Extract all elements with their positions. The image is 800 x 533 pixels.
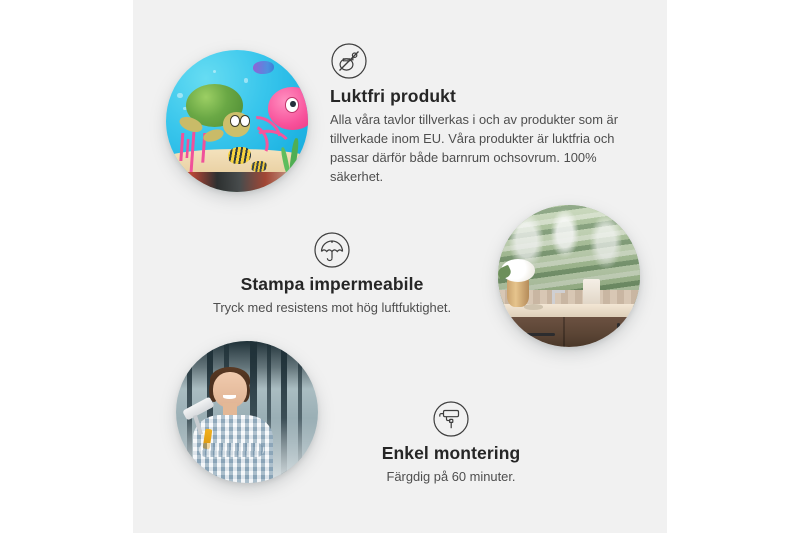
bubble-icon (244, 78, 248, 82)
woman-face (213, 372, 247, 408)
bathroom-photo (498, 205, 640, 347)
vanity-seam (563, 317, 565, 347)
cabinet-handle (617, 323, 620, 341)
feature-block-odourless: Luktfri produkt Alla våra tavlor tillver… (330, 42, 628, 187)
underwater-illustration (166, 50, 308, 192)
feature-title: Luktfri produkt (330, 86, 628, 107)
feature-body: Färgdig på 60 minuter. (331, 468, 571, 487)
purple-fish (253, 61, 274, 74)
paint-roller-icon (432, 400, 470, 438)
woman-folded-arms (199, 443, 264, 457)
bathroom-botanical-circle (498, 205, 640, 347)
woman-neck (223, 403, 237, 414)
feature-title: Enkel montering (331, 443, 571, 464)
soap-dispenser (583, 279, 600, 307)
striped-fish (228, 147, 251, 164)
feature-block-waterproof: Stampa impermeabile Tryck med resistens … (197, 231, 467, 318)
feature-block-easy-mounting: Enkel montering Färgdig på 60 minuter. (331, 400, 571, 487)
feature-body: Alla våra tavlor tillverkas i och av pro… (330, 111, 628, 187)
underwater-cartoon-circle (166, 50, 308, 192)
feature-body: Tryck med resistens mot hög luftfuktighe… (197, 299, 467, 318)
umbrella-icon (313, 231, 351, 269)
no-fragrance-icon (330, 42, 368, 80)
woman-forest-photo (176, 341, 318, 483)
feature-title: Stampa impermeabile (197, 274, 467, 295)
woman-forest-circle (176, 341, 318, 483)
striped-fish (251, 161, 267, 172)
drawer-handle (521, 333, 555, 336)
photo-bottom-strip (166, 172, 308, 192)
screenshot-root: Luktfri produkt Alla våra tavlor tillver… (0, 0, 800, 533)
